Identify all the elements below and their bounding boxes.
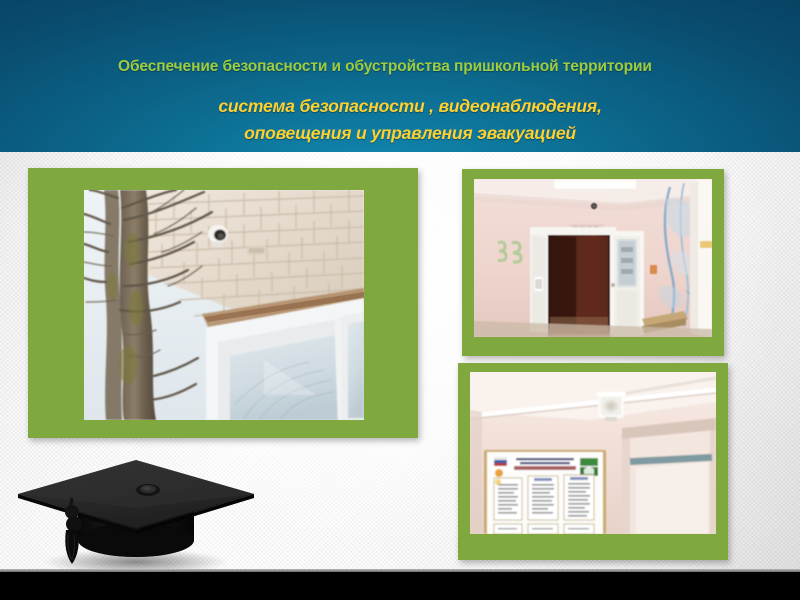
photo-exterior-camera [84,190,364,420]
photo-frame-exterior-camera [28,168,418,438]
photo-frame-entrance-door [462,169,724,356]
page-subtitle: система безопасности , видеонаблюдения, … [120,93,700,147]
page-title: Обеспечение безопасности и обустройства … [118,56,688,77]
bottom-black-bar [0,572,800,600]
photo-entrance-door-image [474,179,712,337]
photo-info-board-alarm [470,372,716,534]
graduation-cap-image [8,452,258,574]
photo-frame-info-board-alarm [458,363,728,560]
presentation-slide: Обеспечение безопасности и обустройства … [0,0,800,600]
photo-entrance-door [474,179,712,337]
photo-info-board-alarm-image [470,372,716,534]
graduation-cap-icon [8,452,258,574]
photo-exterior-camera-image [84,190,364,420]
page-subtitle-line-1: система безопасности , видеонаблюдения, [120,93,700,120]
page-subtitle-line-2: оповещения и управления эвакуацией [120,120,700,147]
